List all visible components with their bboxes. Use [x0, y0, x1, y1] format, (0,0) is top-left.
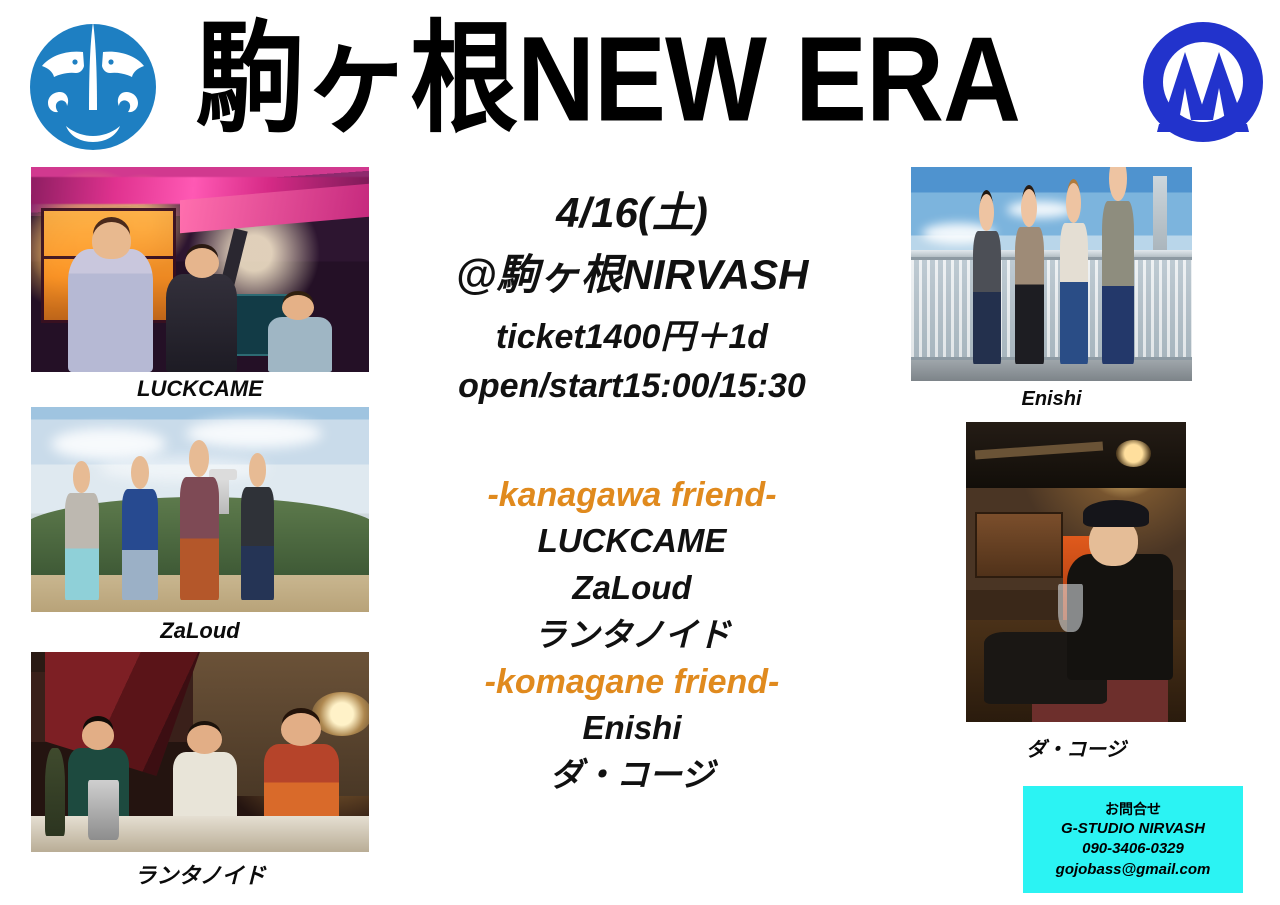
- flyer-canvas: 駒ヶ根NEW ERA LUCKCAME: [0, 0, 1280, 905]
- lineup-heading-komagane: -komagane friend-: [382, 665, 882, 699]
- person-figure: [268, 317, 332, 372]
- photo-caption-lantanoid: ランタノイド: [31, 858, 369, 890]
- event-info-block: 4/16(土) @駒ヶ根NIRVASH ticket1400円＋1d open/…: [382, 186, 882, 409]
- lineup-act-lantanoid: ランタノイド: [382, 618, 882, 651]
- photo-caption-luckcame: LUCKCAME: [31, 376, 369, 402]
- contact-studio-name: G-STUDIO NIRVASH: [1061, 820, 1205, 837]
- lineup-act-zaloud: ZaLoud: [382, 571, 882, 604]
- contact-email: gojobass@gmail.com: [1056, 861, 1211, 878]
- person-figure: [1102, 201, 1134, 364]
- band-photo-dakoji: [966, 422, 1186, 722]
- cloud-decor: [1007, 201, 1074, 218]
- flyer-header: 駒ヶ根NEW ERA: [0, 0, 1280, 158]
- photo-caption-dakoji: ダ・コージ: [950, 733, 1202, 762]
- person-figure: [122, 489, 157, 600]
- shelf-decor: [975, 512, 1063, 578]
- glass-decor: [1058, 584, 1082, 632]
- band-photo-luckcame: [31, 167, 369, 372]
- flyer-title: 駒ヶ根NEW ERA: [196, 0, 1096, 161]
- mountain-circle-emblem-icon: [1133, 12, 1273, 152]
- band-photo-enishi: [911, 167, 1192, 381]
- photo-caption-zaloud: ZaLoud: [31, 618, 369, 644]
- person-figure: [65, 493, 99, 600]
- bridge-railing-decor: [911, 257, 1192, 360]
- contact-label: お問合せ: [1105, 801, 1161, 817]
- person-figure: [166, 274, 237, 372]
- contact-phone: 090-3406-0329: [1082, 840, 1184, 857]
- tower-decor: [1153, 176, 1167, 262]
- person-figure: [241, 487, 275, 600]
- band-photo-zaloud: [31, 407, 369, 612]
- bottle-decor: [45, 748, 65, 836]
- photo-caption-enishi: Enishi: [911, 388, 1192, 411]
- lineup-heading-kanagawa: -kanagawa friend-: [382, 478, 882, 512]
- band-photo-lantanoid: [31, 652, 369, 852]
- pendant-lamp-decor: [1116, 440, 1151, 467]
- event-date: 4/16(土): [382, 186, 882, 240]
- person-figure: [1015, 227, 1045, 364]
- event-open-start-times: open/start15:00/15:30: [382, 365, 882, 409]
- person-figure: [1060, 223, 1088, 364]
- cloud-decor: [51, 428, 166, 461]
- person-figure: [1067, 554, 1173, 680]
- person-figure: [68, 249, 153, 372]
- lineup-act-enishi: Enishi: [382, 711, 882, 744]
- observation-tower-decor: [217, 469, 229, 514]
- baseball-cap-decor: [1083, 500, 1149, 527]
- cloud-decor: [186, 419, 321, 448]
- bridge-deck-decor: [911, 360, 1192, 381]
- person-figure: [180, 477, 219, 600]
- event-venue: @駒ヶ根NIRVASH: [382, 248, 882, 302]
- lineup-block: -kanagawa friend- LUCKCAME ZaLoud ランタノイド…: [382, 478, 882, 805]
- can-decor: [88, 780, 118, 840]
- contact-box: お問合せ G-STUDIO NIRVASH 090-3406-0329 gojo…: [1023, 786, 1243, 893]
- komagane-fish-emblem-icon: [20, 14, 166, 160]
- cloud-decor: [99, 456, 268, 481]
- event-ticket-price: ticket1400円＋1d: [382, 316, 882, 360]
- table-decor: [31, 816, 369, 852]
- person-figure: [973, 231, 1001, 364]
- lineup-act-luckcame: LUCKCAME: [382, 524, 882, 557]
- lineup-act-dakoji: ダ・コージ: [382, 758, 882, 791]
